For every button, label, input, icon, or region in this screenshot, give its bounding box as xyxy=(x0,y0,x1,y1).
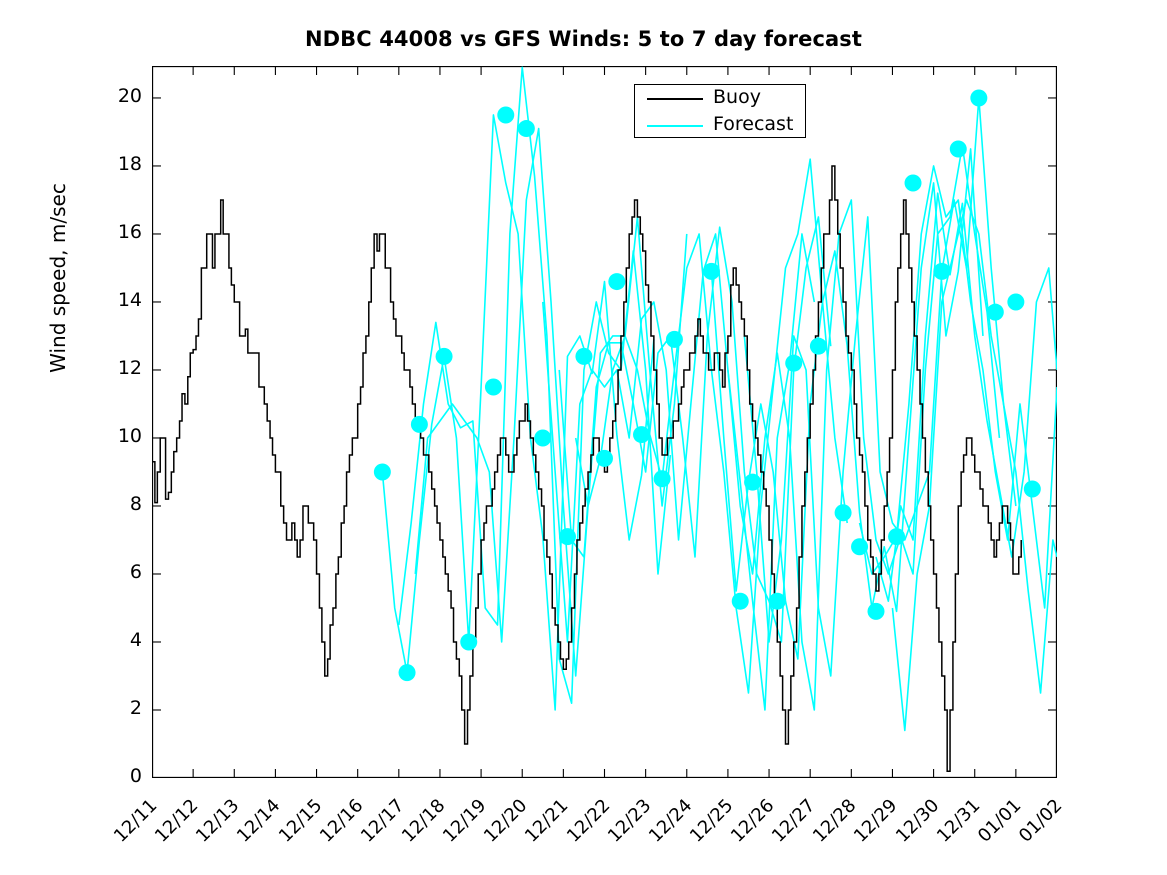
forecast-marker xyxy=(851,538,868,555)
forecast-marker xyxy=(703,263,720,280)
y-axis-label: Wind speed, m/sec xyxy=(46,148,70,408)
forecast-marker xyxy=(596,450,613,467)
forecast-marker xyxy=(633,426,650,443)
forecast-marker xyxy=(436,348,453,365)
forecast-marker xyxy=(888,528,905,545)
forecast-marker xyxy=(1007,293,1024,310)
forecast-line xyxy=(559,217,831,642)
forecast-marker xyxy=(970,89,987,106)
forecast-marker xyxy=(785,355,802,372)
y-tick-label: 18 xyxy=(100,153,142,175)
series-group xyxy=(152,67,1057,771)
forecast-marker xyxy=(950,140,967,157)
forecast-marker xyxy=(744,474,761,491)
legend-label: Buoy xyxy=(713,86,761,108)
axis-ticks xyxy=(152,66,1057,778)
y-tick-label: 0 xyxy=(100,765,142,787)
forecast-marker xyxy=(518,120,535,137)
forecast-marker xyxy=(575,348,592,365)
y-tick-label: 12 xyxy=(100,357,142,379)
plot-svg xyxy=(152,66,1057,778)
forecast-marker xyxy=(534,429,551,446)
forecast-marker xyxy=(497,106,514,123)
forecast-markers xyxy=(374,89,1041,681)
legend-swatch xyxy=(647,98,703,100)
forecast-marker xyxy=(905,174,922,191)
forecast-marker xyxy=(769,593,786,610)
legend-item: Buoy xyxy=(635,85,807,112)
forecast-marker xyxy=(933,263,950,280)
legend-label: Forecast xyxy=(713,113,793,135)
forecast-marker xyxy=(485,378,502,395)
y-tick-label: 20 xyxy=(100,85,142,107)
legend-item: Forecast xyxy=(635,112,807,139)
forecast-marker xyxy=(666,331,683,348)
forecast-marker xyxy=(374,463,391,480)
plot-area xyxy=(152,66,1057,778)
legend: BuoyForecast xyxy=(634,84,806,138)
forecast-marker xyxy=(835,504,852,521)
forecast-marker xyxy=(810,338,827,355)
forecast-marker xyxy=(460,633,477,650)
chart-canvas: NDBC 44008 vs GFS Winds: 5 to 7 day fore… xyxy=(0,0,1167,875)
y-tick-label: 2 xyxy=(100,697,142,719)
forecast-marker xyxy=(608,273,625,290)
chart-title: NDBC 44008 vs GFS Winds: 5 to 7 day fore… xyxy=(0,27,1167,51)
y-tick-label: 6 xyxy=(100,561,142,583)
y-tick-label: 8 xyxy=(100,493,142,515)
y-tick-label: 4 xyxy=(100,629,142,651)
forecast-marker xyxy=(399,664,416,681)
y-tick-label: 14 xyxy=(100,289,142,311)
forecast-marker xyxy=(411,416,428,433)
y-tick-label: 10 xyxy=(100,425,142,447)
buoy-line xyxy=(152,166,1021,771)
forecast-line xyxy=(415,129,687,676)
forecast-marker xyxy=(987,304,1004,321)
forecast-marker xyxy=(654,470,671,487)
forecast-marker xyxy=(1024,480,1041,497)
forecast-marker xyxy=(732,593,749,610)
forecast-marker xyxy=(559,528,576,545)
y-tick-label: 16 xyxy=(100,221,142,243)
legend-swatch xyxy=(647,125,703,127)
forecast-marker xyxy=(868,603,885,620)
